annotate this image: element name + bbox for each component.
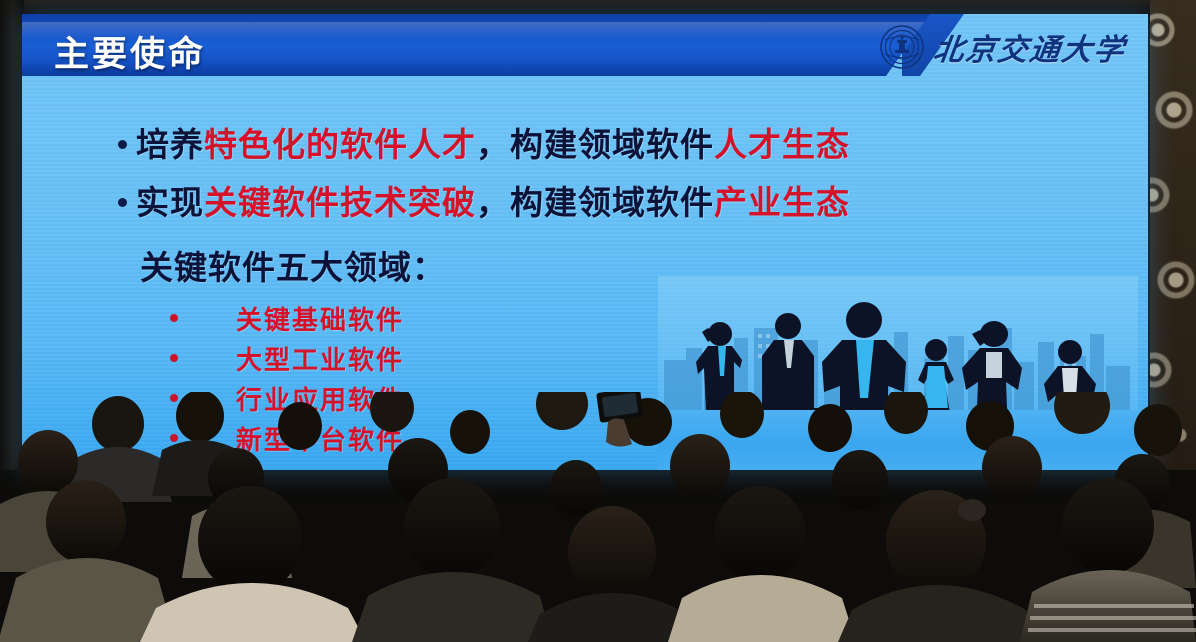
list-item: 关键基础软件	[170, 298, 404, 338]
bullet-1-seg-1: 特色化的软件人才	[204, 126, 476, 163]
photo-of-conference-screen: 主要使命 北京交通大学 培养特色化的软件人才，构建领域软件人才生态	[0, 0, 1196, 642]
bullet-1-seg-3: 人才生态	[714, 126, 850, 163]
university-logo: 北京交通大学	[879, 24, 1126, 70]
bullet-1-seg-2: ，构建领域软件	[476, 126, 714, 163]
bullet-2-seg-2: ，构建领域软件	[476, 184, 714, 221]
sub-item-label: 大型工业软件	[236, 340, 404, 377]
page-title: 主要使命	[54, 26, 206, 77]
bullet-2-seg-3: 产业生态	[714, 184, 850, 221]
list-item: 大型工业软件	[170, 338, 404, 378]
seated-audience-silhouettes	[0, 392, 1196, 642]
bullet-dot-icon	[118, 140, 127, 149]
bullet-2-seg-1: 关键软件技术突破	[204, 184, 476, 221]
bullet-2-seg-0: 实现	[136, 184, 204, 221]
university-seal-icon	[879, 24, 925, 70]
bullet-1-seg-0: 培养	[136, 126, 204, 163]
sub-bullet-dot-icon	[170, 314, 178, 322]
bullet-line-2: 实现关键软件技术突破，构建领域软件产业生态	[118, 176, 850, 224]
section-heading: 关键软件五大领域：	[140, 241, 446, 289]
bullet-dot-icon	[118, 198, 127, 207]
university-name: 北京交通大学	[931, 25, 1128, 69]
sub-item-label: 关键基础软件	[236, 300, 404, 337]
bullet-line-1: 培养特色化的软件人才，构建领域软件人才生态	[118, 118, 850, 166]
sub-bullet-dot-icon	[170, 354, 178, 362]
